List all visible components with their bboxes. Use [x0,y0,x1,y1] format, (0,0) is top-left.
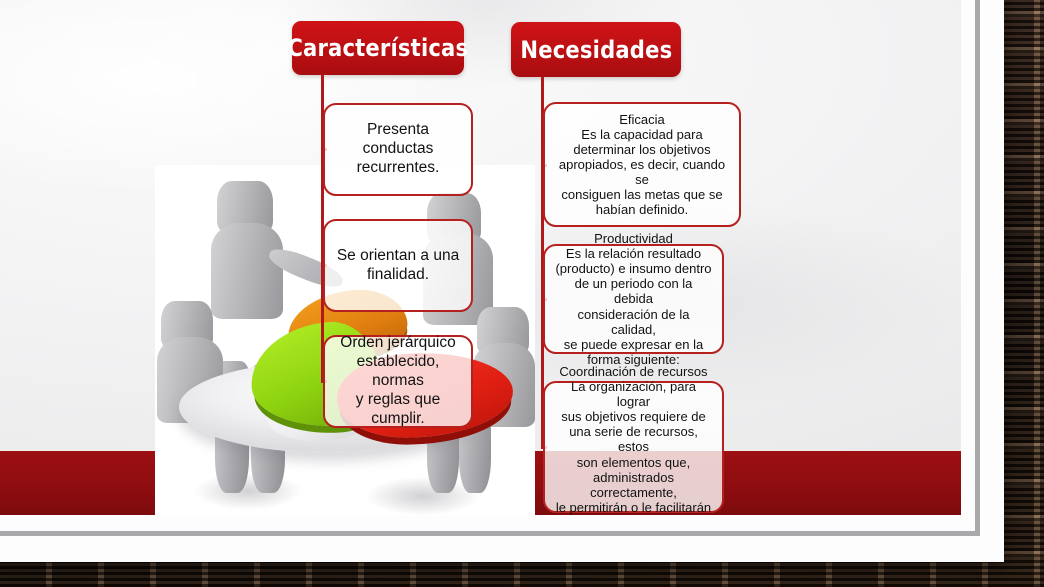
content-box-left-1[interactable]: Presenta conductas recurrentes. [323,103,473,196]
figure-body [211,223,283,319]
content-box-right-1-text: Eficacia Es la capacidad para determinar… [555,112,729,218]
header-necesidades[interactable]: Necesidades [511,22,681,77]
header-necesidades-label: Necesidades [520,36,672,64]
content-box-left-1-text: Presenta conductas recurrentes. [335,121,461,178]
content-box-left-3-text: Orden jerárquico establecido, normas y r… [335,334,461,429]
slide-frame: ORGANIZACIÓN [0,0,1004,562]
content-box-left-2-text: Se orientan a una finalidad. [337,247,459,285]
header-caracteristicas[interactable]: Características [292,21,464,75]
slide-canvas: ORGANIZACIÓN [0,0,961,515]
content-box-right-2[interactable]: Productividad Es la relación resultado (… [543,244,724,354]
content-box-left-3[interactable]: Orden jerárquico establecido, normas y r… [323,335,473,428]
content-box-left-2[interactable]: Se orientan a una finalidad. [323,219,473,312]
content-box-right-1[interactable]: Eficacia Es la capacidad para determinar… [543,102,741,227]
page-title: ORGANIZACIÓN [53,0,871,10]
slide-inner-border: ORGANIZACIÓN [0,0,980,536]
content-box-right-3[interactable]: Coordinación de recursos La organización… [543,381,724,513]
content-box-right-3-text: Coordinación de recursos La organización… [555,364,712,515]
content-box-right-2-text: Productividad Es la relación resultado (… [555,231,712,367]
header-caracteristicas-label: Características [288,34,469,62]
slide-stage: ORGANIZACIÓN [0,0,1044,587]
